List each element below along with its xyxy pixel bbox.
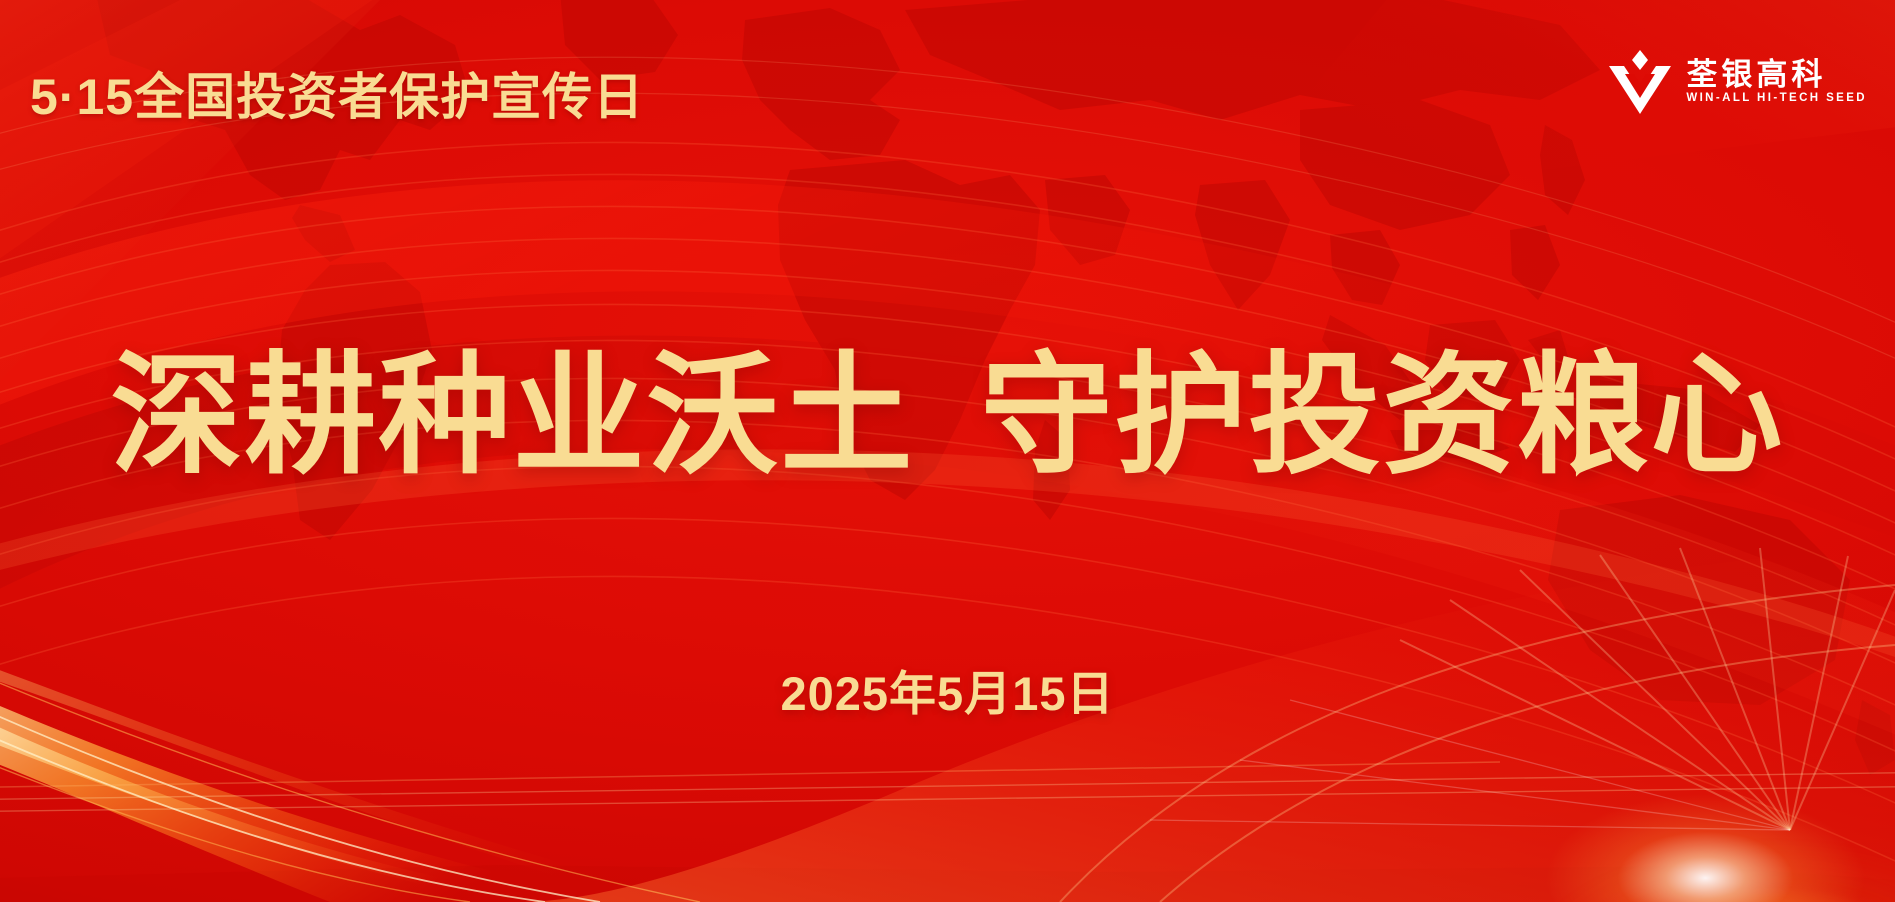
event-title: 5·15全国投资者保护宣传日	[30, 57, 644, 129]
win-all-chevron-icon	[1608, 48, 1672, 116]
logo-company-en: WIN-ALL HI-TECH SEED	[1686, 93, 1867, 105]
company-logo: 荃银高科 WIN-ALL HI-TECH SEED	[1608, 48, 1867, 116]
headline-part-2: 守护投资粮心	[981, 342, 1785, 489]
event-date: 2025年5月15日	[0, 655, 1895, 724]
logo-text-block: 荃银高科 WIN-ALL HI-TECH SEED	[1686, 59, 1867, 105]
poster-banner: 5·15全国投资者保护宣传日 荃银高科 WIN-ALL HI-TECH SEED…	[0, 0, 1895, 902]
poster-content: 5·15全国投资者保护宣传日 荃银高科 WIN-ALL HI-TECH SEED…	[0, 0, 1895, 902]
logo-company-cn: 荃银高科	[1686, 59, 1867, 90]
headline: 深耕种业沃土守护投资粮心	[0, 345, 1895, 488]
headline-part-1: 深耕种业沃土	[111, 342, 915, 489]
